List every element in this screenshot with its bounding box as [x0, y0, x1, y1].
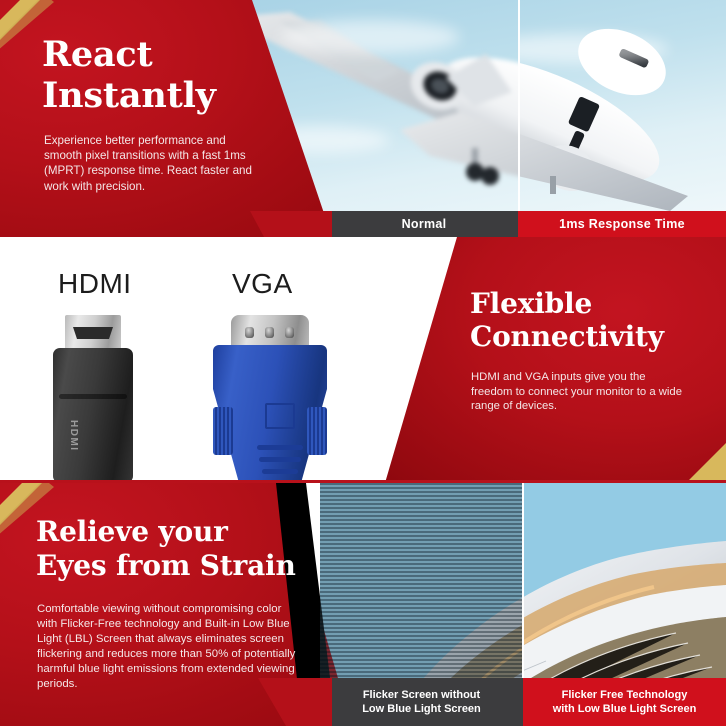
hdmi-pin: [99, 329, 104, 335]
relieve-heading-line1: Relieve your: [36, 515, 228, 548]
label-bar-red-wedge: [250, 211, 332, 237]
hdmi-metal-shield: [65, 315, 121, 351]
vga-pinhole: [285, 327, 294, 338]
relieve-heading: Relieve your Eyes from Strain: [36, 515, 296, 583]
vga-thumbscrew: [213, 407, 233, 455]
label-flicker-line2: Low Blue Light Screen: [362, 702, 481, 716]
airplane-comparison-image: [250, 0, 726, 211]
relieve-heading-line2: Eyes from Strain: [36, 549, 296, 582]
flexible-heading: Flexible Connectivity: [470, 287, 664, 353]
flexible-red-panel: [385, 237, 726, 483]
vga-thumbscrew: [307, 407, 327, 455]
vga-slot: [262, 469, 298, 474]
react-body-text: Experience better performance and smooth…: [44, 133, 266, 194]
vga-pinhole: [265, 327, 274, 338]
react-heading: React Instantly: [42, 34, 216, 116]
section-react-instantly: Normal 1ms Response Time React Instantly…: [0, 0, 726, 237]
label-normal: Normal: [330, 211, 518, 237]
label-flicker-screen: Flicker Screen without Low Blue Light Sc…: [320, 678, 523, 726]
hdmi-pin: [81, 329, 86, 335]
vga-slot: [257, 445, 303, 450]
infographic-page: Normal 1ms Response Time React Instantly…: [0, 0, 726, 726]
vga-center-square: [265, 403, 295, 429]
label-flicker-free: Flicker Free Technology with Low Blue Li…: [523, 678, 726, 726]
image-split-divider: [518, 0, 520, 211]
connectors-image: HDMI VGA HDMI: [0, 237, 420, 483]
vga-slot: [259, 457, 301, 462]
label-response-time: 1ms Response Time: [518, 211, 726, 237]
flexible-heading-line2: Connectivity: [470, 320, 664, 353]
hdmi-connector-illustration: HDMI: [53, 315, 133, 483]
flexible-body-text: HDMI and VGA inputs give you the freedom…: [471, 370, 683, 414]
vga-pinhole: [245, 327, 254, 338]
react-heading-line1: React: [42, 34, 153, 75]
flexible-heading-line1: Flexible: [470, 287, 592, 320]
label-flicker-line1: Flicker Screen without: [363, 688, 480, 702]
vga-label: VGA: [232, 268, 293, 300]
section-flexible-connectivity: HDMI VGA HDMI: [0, 237, 726, 483]
label-flicker-free-line2: with Low Blue Light Screen: [553, 702, 697, 716]
hdmi-logo-text: HDMI: [68, 420, 79, 452]
airplane-illustration: [518, 0, 726, 211]
hdmi-label: HDMI: [58, 268, 132, 300]
react-heading-line2: Instantly: [42, 75, 216, 116]
vga-metal-shell: [231, 315, 309, 349]
vga-connector-illustration: [205, 315, 335, 483]
cloud-wisp: [280, 20, 460, 54]
airplane-sharp-half: [518, 0, 726, 211]
hdmi-plastic-body: HDMI: [53, 348, 133, 483]
label-flicker-free-line1: Flicker Free Technology: [562, 688, 688, 702]
